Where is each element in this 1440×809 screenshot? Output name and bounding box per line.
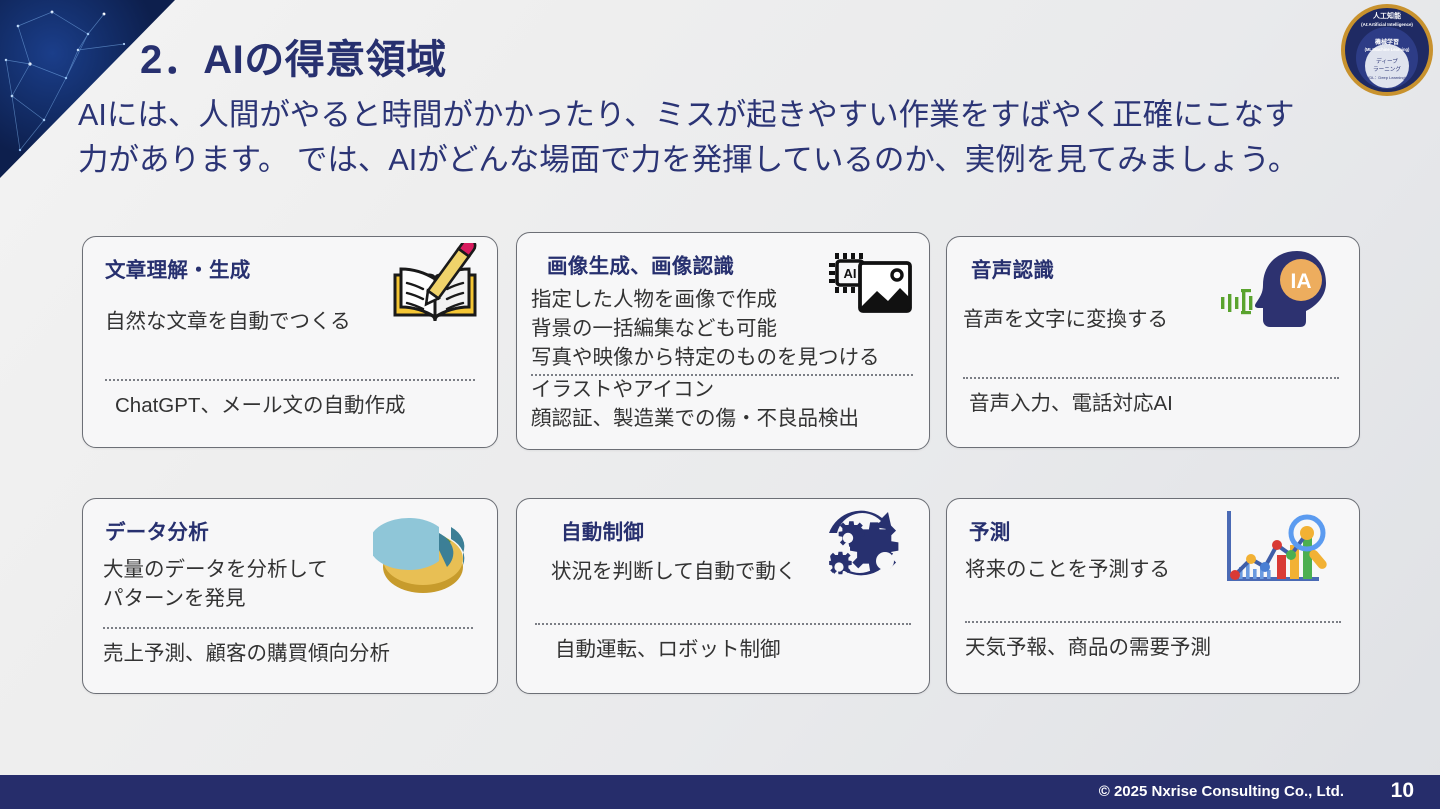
card-image-generation[interactable]: 画像生成、画像認識 指定した人物を画像で作成 背景の一括編集なども可能 写真や映…	[516, 232, 930, 450]
card-divider	[105, 379, 475, 381]
card-divider	[535, 623, 911, 625]
card-heading: データ分析	[105, 515, 209, 545]
card-footer-text: 自動運転、ロボット制御	[555, 635, 781, 664]
page-title: 2．AIの得意領域	[140, 27, 447, 85]
card-heading: 音声認識	[971, 253, 1054, 283]
svg-text:IA: IA	[1291, 270, 1312, 293]
footer-bar: © 2025 Nxrise Consulting Co., Ltd. 10	[0, 775, 1440, 809]
logo-ai-label: 人工知能	[1373, 11, 1401, 20]
lead-paragraph: AIには、人間がやると時間がかかったり、ミスが起きやすい作業をすばやく正確にこな…	[78, 93, 1368, 183]
card-divider	[965, 621, 1341, 623]
gears-icon	[813, 503, 921, 595]
logo-dl-label-1: ディープ	[1376, 57, 1398, 65]
lead-line-1: AIには、人間がやると時間がかかったり、ミスが起きやすい作業をすばやく正確にこな…	[78, 98, 1295, 132]
voice-head-icon: IA	[1215, 245, 1337, 337]
logo-dl-sublabel: (DL：Deep Learning)	[1368, 75, 1407, 80]
pie-chart-icon	[373, 505, 489, 605]
copyright-text: © 2025 Nxrise Consulting Co., Ltd.	[1099, 783, 1344, 800]
card-divider	[103, 627, 473, 629]
card-heading: 文章理解・生成	[105, 253, 251, 283]
card-speech-recognition[interactable]: 音声認識 音声を文字に変換する 音声入力、電話対応AI IA	[946, 236, 1360, 448]
card-forecast[interactable]: 予測 将来のことを予測する 天気予報、商品の需要予測	[946, 498, 1360, 694]
card-body-text: 音声を文字に変換する	[963, 305, 1168, 334]
card-divider	[963, 377, 1339, 379]
forecast-chart-icon	[1221, 505, 1333, 597]
ai-image-icon: AI	[815, 241, 915, 327]
card-footer-text: ChatGPT、メール文の自動作成	[115, 391, 405, 420]
lead-line-2: 力があります。 では、AIがどんな場面で力を発揮しているのか、実例を見てみましょ…	[78, 138, 1368, 183]
card-heading: 画像生成、画像認識	[547, 249, 734, 279]
card-heading: 予測	[969, 515, 1011, 545]
card-body-text: 状況を判断して自動で動く	[551, 557, 796, 586]
slide-root: 2．AIの得意領域 AIには、人間がやると時間がかかったり、ミスが起きやすい作業…	[0, 0, 1440, 809]
card-footer-text: 売上予測、顧客の購買傾向分析	[103, 639, 390, 668]
card-body-text: 大量のデータを分析して パターンを発見	[103, 555, 328, 613]
logo-ai-sublabel: (AI:Artificial Intelligence)	[1361, 22, 1413, 27]
page-number: 10	[1391, 779, 1414, 803]
card-body-text: 将来のことを予測する	[965, 555, 1170, 584]
svg-text:AI: AI	[844, 266, 857, 281]
card-footer-text: イラストやアイコン 顔認証、製造業での傷・不良品検出	[531, 375, 859, 433]
book-pencil-icon	[383, 243, 487, 335]
card-data-analysis[interactable]: データ分析 大量のデータを分析して パターンを発見 売上予測、顧客の購買傾向分析	[82, 498, 498, 694]
card-automatic-control[interactable]: 自動制御 状況を判断して自動で動く 自動運転、ロボット制御	[516, 498, 930, 694]
card-footer-text: 天気予報、商品の需要予測	[965, 633, 1211, 662]
logo-ml-label: 機械学習	[1375, 38, 1399, 46]
card-heading: 自動制御	[561, 515, 644, 545]
logo-ml-sublabel: (ML:Machine Learning)	[1365, 47, 1410, 52]
card-text-generation[interactable]: 文章理解・生成 自然な文章を自動でつくる ChatGPT、メール文の自動作成	[82, 236, 498, 448]
logo-dl-label-2: ラーニング	[1373, 65, 1401, 73]
ai-ml-dl-logo: 人工知能 (AI:Artificial Intelligence) 機械学習 (…	[1338, 2, 1436, 102]
card-footer-text: 音声入力、電話対応AI	[969, 389, 1173, 418]
card-body-text: 自然な文章を自動でつくる	[105, 307, 351, 336]
